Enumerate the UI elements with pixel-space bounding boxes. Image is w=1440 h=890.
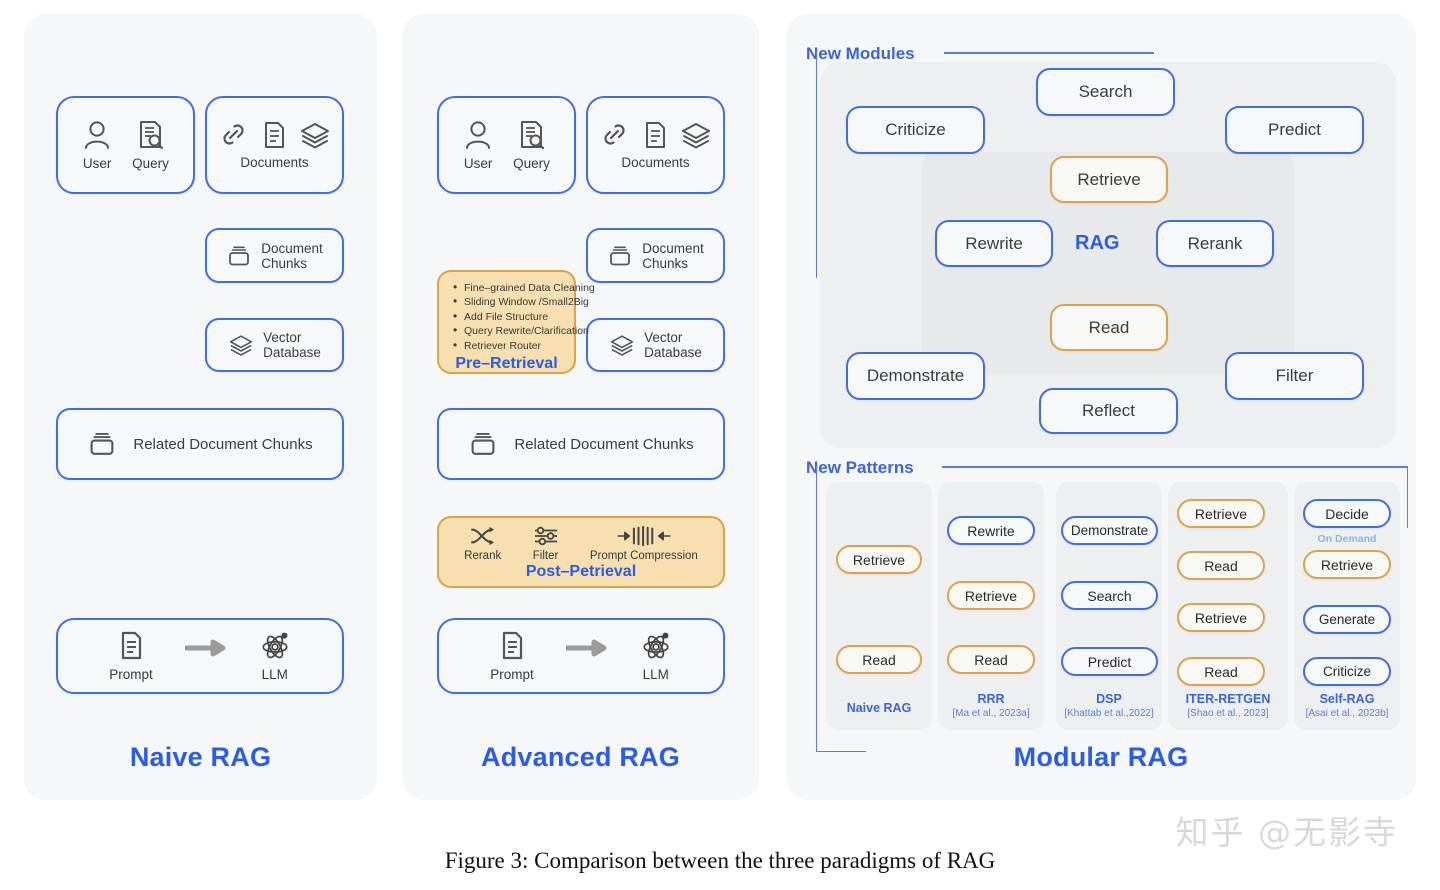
pattern-step-search[interactable]: Search — [1061, 581, 1158, 610]
pattern-step-retrieve[interactable]: Retrieve — [836, 545, 922, 574]
naive-query-label: Query — [132, 156, 169, 171]
naive-llm-label: LLM — [262, 667, 288, 682]
pre-retrieval-bullet: Fine–grained Data Cleaning — [453, 281, 574, 295]
module-label: Demonstrate — [867, 366, 964, 386]
naive-prompt-label: Prompt — [109, 667, 153, 682]
pre-retrieval-box[interactable]: Fine–grained Data Cleaning Sliding Windo… — [437, 270, 576, 374]
llm-icon-cell: LLM — [259, 630, 291, 682]
llm-atom-icon — [259, 630, 291, 662]
pattern-name-text: ITER-RETGEN — [1186, 692, 1271, 706]
pattern-step-retrieve[interactable]: Retrieve — [1177, 499, 1265, 528]
pattern-citation: [Asai et al., 2023b] — [1294, 707, 1400, 720]
advanced-documents-box[interactable]: Documents — [586, 96, 725, 194]
module-rewrite[interactable]: Rewrite — [935, 220, 1053, 267]
pattern-step-read[interactable]: Read — [1177, 551, 1265, 580]
pre-retrieval-bullet: Retriever Router — [453, 339, 574, 353]
layers-icon — [680, 120, 712, 150]
post-retrieval-stage-label: Post–Petrieval — [439, 563, 723, 581]
post-retrieval-box[interactable]: Rerank Filter — [437, 516, 725, 588]
module-criticize[interactable]: Criticize — [846, 106, 985, 154]
advanced-vectordb-line2: Database — [644, 345, 702, 360]
compress-icon — [614, 525, 674, 547]
naive-prompt-llm-box[interactable]: Prompt LLM — [56, 618, 344, 694]
naive-vectordb-line2: Database — [263, 345, 321, 360]
chunks-icon — [607, 243, 633, 269]
naive-documents-box[interactable]: Documents — [205, 96, 344, 194]
sliders-icon — [532, 525, 560, 547]
pre-retrieval-stage-label: Pre–Retrieval — [439, 355, 574, 373]
rerank-label: Rerank — [464, 550, 501, 562]
advanced-user-query-box[interactable]: User Query — [437, 96, 576, 194]
user-icon — [463, 119, 493, 151]
pattern-column — [826, 482, 932, 730]
adv-query-icon-cell: Query — [513, 119, 550, 171]
document-icon — [640, 120, 670, 150]
pattern-citation: [Shao et al., 2023] — [1168, 707, 1288, 720]
chunks-icon — [226, 243, 252, 269]
pre-retrieval-bullets: Fine–grained Data Cleaning Sliding Windo… — [439, 272, 574, 353]
naive-vectordb-line1: Vector — [263, 330, 321, 345]
pattern-step-retrieve[interactable]: Retrieve — [1177, 603, 1265, 632]
query-icon-cell: Query — [132, 119, 169, 171]
pattern-step-label: Predict — [1088, 654, 1132, 670]
pattern-step-demonstrate[interactable]: Demonstrate — [1061, 516, 1158, 545]
rag-core-label: RAG — [1075, 232, 1119, 255]
related-chunks-icon — [87, 429, 117, 459]
advanced-prompt-llm-box[interactable]: Prompt LLM — [437, 618, 725, 694]
pattern-step-read[interactable]: Read — [947, 645, 1035, 674]
module-label: Read — [1089, 318, 1130, 338]
vector-db-layers-icon — [609, 333, 635, 357]
pattern-step-label: Retrieve — [1321, 557, 1373, 573]
modular-rag-title: Modular RAG — [786, 742, 1416, 773]
pattern-step-label: Retrieve — [853, 552, 905, 568]
new-modules-rule — [944, 52, 1154, 54]
related-chunks-icon — [468, 429, 498, 459]
rerank-icon-cell: Rerank — [464, 525, 501, 562]
naive-chunks-line1: Document — [261, 241, 323, 256]
prompt-doc-icon — [116, 630, 146, 662]
pattern-step-read[interactable]: Read — [836, 645, 922, 674]
pattern-step-retrieve[interactable]: Retrieve — [1303, 550, 1391, 579]
pattern-step-label: Decide — [1325, 506, 1369, 522]
pre-retrieval-bullet: Add File Structure — [453, 310, 574, 324]
adv-llm-icon-cell: LLM — [640, 630, 672, 682]
pattern-step-retrieve[interactable]: Retrieve — [947, 581, 1035, 610]
pattern-step-label: Retrieve — [1195, 610, 1247, 626]
naive-user-query-box[interactable]: User Query — [56, 96, 195, 194]
adv-prompt-icon-cell: Prompt — [490, 630, 534, 682]
module-label: Predict — [1268, 120, 1321, 140]
module-label: Rewrite — [965, 234, 1023, 254]
right-arrow-icon — [183, 639, 229, 657]
pattern-name-text: RRR — [977, 692, 1004, 706]
pattern-step-predict[interactable]: Predict — [1061, 647, 1158, 676]
module-predict[interactable]: Predict — [1225, 106, 1364, 154]
naive-vector-database-box[interactable]: Vector Database — [205, 318, 344, 372]
pattern-step-label: Read — [1204, 558, 1237, 574]
pattern-step-read[interactable]: Read — [1177, 657, 1265, 686]
pattern-name-iter-retgen: ITER-RETGEN [Shao et al., 2023] — [1168, 693, 1288, 720]
advanced-documents-label: Documents — [621, 155, 689, 170]
advanced-vector-database-box[interactable]: Vector Database — [586, 318, 725, 372]
naive-rag-title: Naive RAG — [24, 742, 377, 773]
link-icon — [600, 120, 630, 150]
filter-label: Filter — [533, 550, 559, 562]
advanced-related-chunks-label: Related Document Chunks — [514, 436, 693, 453]
module-label: Criticize — [885, 120, 945, 140]
advanced-query-label: Query — [513, 156, 550, 171]
naive-document-chunks-box[interactable]: Document Chunks — [205, 228, 344, 283]
query-search-doc-icon — [135, 119, 165, 151]
adv-user-icon-cell: User — [463, 119, 493, 171]
prompt-icon-cell: Prompt — [109, 630, 153, 682]
pattern-step-label: Criticize — [1323, 664, 1371, 679]
pattern-step-label: Read — [1204, 664, 1237, 680]
right-arrow-icon — [564, 639, 610, 657]
on-demand-label: On Demand — [1294, 533, 1400, 545]
pattern-citation: [Ma et al., 2023a] — [938, 707, 1044, 720]
pattern-step-label: Read — [974, 652, 1007, 668]
advanced-vectordb-line1: Vector — [644, 330, 702, 345]
pattern-step-label: Retrieve — [1195, 506, 1247, 522]
pattern-step-label: Read — [862, 652, 895, 668]
advanced-document-chunks-box[interactable]: Document Chunks — [586, 228, 725, 283]
pattern-name-dsp: DSP [Khattab et al.,2022] — [1056, 693, 1162, 720]
pre-retrieval-bullet: Query Rewrite/Clarification — [453, 324, 574, 338]
module-label: Retrieve — [1077, 170, 1140, 190]
module-filter[interactable]: Filter — [1225, 352, 1364, 400]
module-label: Rerank — [1188, 234, 1243, 254]
filter-icon-cell: Filter — [532, 525, 560, 562]
pre-retrieval-bullet: Sliding Window /Small2Big — [453, 295, 574, 309]
user-icon — [82, 119, 112, 151]
pattern-step-generate[interactable]: Generate — [1303, 605, 1391, 634]
module-label: Filter — [1276, 366, 1314, 386]
naive-related-chunks-box[interactable]: Related Document Chunks — [56, 408, 344, 480]
llm-atom-icon — [640, 630, 672, 662]
pattern-step-label: Generate — [1319, 612, 1375, 627]
naive-user-label: User — [83, 156, 112, 171]
advanced-related-chunks-box[interactable]: Related Document Chunks — [437, 408, 725, 480]
pattern-step-label: Search — [1087, 588, 1131, 604]
advanced-llm-label: LLM — [643, 667, 669, 682]
module-retrieve[interactable]: Retrieve — [1050, 156, 1168, 203]
watermark: 知乎 @无影寺 — [1176, 806, 1399, 854]
advanced-chunks-line2: Chunks — [642, 256, 704, 271]
new-patterns-rule — [942, 466, 1408, 468]
naive-documents-label: Documents — [240, 155, 308, 170]
naive-chunks-line2: Chunks — [261, 256, 323, 271]
module-search[interactable]: Search — [1036, 68, 1175, 116]
naive-related-chunks-label: Related Document Chunks — [133, 436, 312, 453]
pattern-step-label: Demonstrate — [1071, 523, 1148, 538]
pattern-name-self-rag: Self-RAG [Asai et al., 2023b] — [1294, 693, 1400, 720]
pattern-step-rewrite[interactable]: Rewrite — [947, 516, 1035, 545]
pattern-step-criticize[interactable]: Criticize — [1303, 657, 1391, 686]
pattern-name-text: Naive RAG — [847, 701, 912, 715]
adv-documents-icon-cell: Documents — [600, 120, 712, 170]
module-demonstrate[interactable]: Demonstrate — [846, 352, 985, 400]
prompt-doc-icon — [497, 630, 527, 662]
query-search-doc-icon — [516, 119, 546, 151]
advanced-prompt-label: Prompt — [490, 667, 534, 682]
prompt-compression-icon-cell: Prompt Compression — [590, 525, 698, 562]
vector-db-layers-icon — [228, 333, 254, 357]
module-read[interactable]: Read — [1050, 304, 1168, 351]
advanced-rag-title: Advanced RAG — [402, 742, 759, 773]
advanced-user-label: User — [464, 156, 493, 171]
pattern-step-label: Retrieve — [965, 588, 1017, 604]
module-reflect[interactable]: Reflect — [1039, 388, 1178, 434]
pattern-step-decide[interactable]: Decide — [1303, 499, 1391, 528]
user-icon-cell: User — [82, 119, 112, 171]
advanced-chunks-line1: Document — [642, 241, 704, 256]
pattern-name-text: DSP — [1096, 692, 1122, 706]
pattern-name-naive-rag: Naive RAG — [826, 702, 932, 715]
documents-icon-cell: Documents — [219, 120, 331, 170]
prompt-compression-label: Prompt Compression — [590, 550, 698, 562]
shuffle-icon — [469, 525, 497, 547]
document-icon — [259, 120, 289, 150]
figure-canvas: User Query — [0, 0, 1440, 890]
pattern-citation: [Khattab et al.,2022] — [1056, 707, 1162, 720]
pattern-name-rrr: RRR [Ma et al., 2023a] — [938, 693, 1044, 720]
layers-icon — [299, 120, 331, 150]
module-label: Reflect — [1082, 401, 1135, 421]
module-label: Search — [1079, 82, 1133, 102]
pattern-step-label: Rewrite — [967, 523, 1014, 539]
pattern-name-text: Self-RAG — [1320, 692, 1375, 706]
link-icon — [219, 120, 249, 150]
module-rerank[interactable]: Rerank — [1156, 220, 1274, 267]
